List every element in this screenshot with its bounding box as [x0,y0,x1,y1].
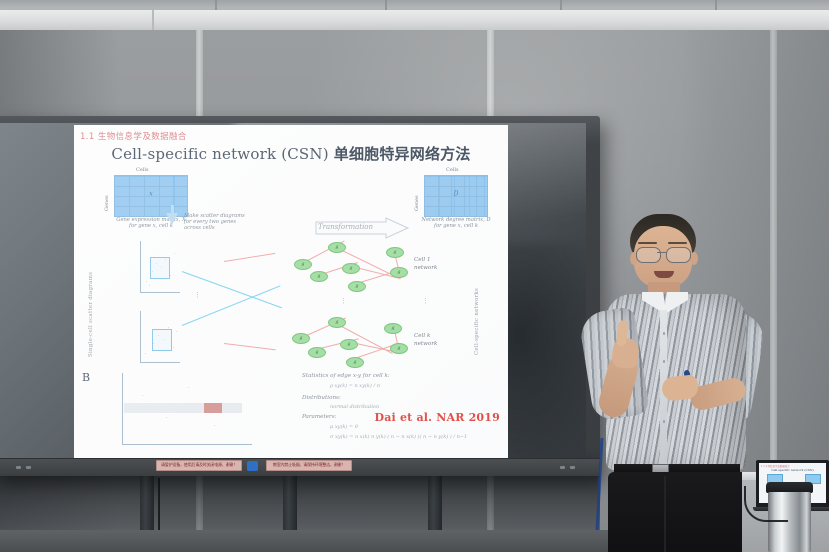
network-node: g [294,259,312,270]
network-node: g [310,271,328,282]
stats-heading: Statistics of edge x-y for cell k: [302,373,390,379]
histogram-panel [122,373,252,445]
slide-title-chinese: 单细胞特异网络方法 [334,145,471,163]
network-node: g [390,267,408,278]
table-cable [744,486,788,522]
presenter-trousers [608,472,748,552]
network-degree-matrix: D [424,175,488,217]
network-node: g [340,339,358,350]
bezel-notice-1: 请爱护设备，使用后请及时关闭电源，谢谢！ [156,460,242,471]
make-scatter-caption-3: across cells [184,225,304,231]
laptop-slide-title: Cell-specific network (CSN) [759,468,826,472]
vertical-ellipsis: ⋮ [340,297,348,305]
network-node: g [390,343,408,354]
parameters-line-2: σ xy(k) = n x(k) n y(k) ( n − n x(k) )( … [330,434,467,440]
side-label-cell-networks: Cell-specific networks [474,288,480,355]
scatter-plot [140,311,180,363]
network-node: g [346,357,364,368]
transformation-arrow-label: Transformation [318,223,373,231]
distributions-label: Distributions: [302,395,341,401]
network-node: g [348,281,366,292]
slide-content: 1.1 生物信息学及数据融合 Cell-specific network (CS… [74,125,508,458]
eyeglasses-lens-right [666,247,691,263]
vertical-ellipsis: ⋮ [422,297,430,305]
right-matrix-cell-label: D [454,191,459,198]
right-matrix-caption-2: for gene x, cell k [404,223,508,229]
network-node: g [328,242,346,253]
right-matrix-x-axis-label: Cells [446,167,459,173]
network-node: g [386,247,404,258]
ceiling-beam [0,10,829,32]
parameters-label: Parameters: [302,414,336,420]
scatter-plot [140,241,180,293]
network-node: g [342,263,360,274]
brand-badge-icon [247,461,258,471]
stats-formula: ρ xy(k) = n xy(k) / n [330,383,380,389]
cell-k-network: g g g g g g g Cell k network [280,315,420,375]
slide-title-english: Cell-specific network (CSN) [111,145,328,163]
bezel-notice-2: 教室内禁止吸烟，请保持环境整洁，谢谢！ [266,460,352,471]
slide-kicker: 1.1 生物信息学及数据融合 [80,130,187,142]
link-line [224,343,276,350]
cell-1-network: g g g g g g g Cell 1 network [280,241,420,301]
panel-letter-b: B [82,371,90,384]
link-line [224,253,276,262]
citation-label: Dai et al. NAR 2019 [374,411,500,424]
presenter-ear-right [690,252,698,265]
display-bottom-bezel: 请爱护设备，使用后请及时关闭电源，谢谢！ 教室内禁止吸烟，请保持环境整洁，谢谢！ [0,458,600,476]
side-label-scatter-diagrams: Single-cell scatter diagrams [88,272,94,357]
distributions-value: normal distribution [330,404,379,410]
cell-1-network-label-2: network [414,265,437,272]
screenshot-root: 请爱护设备，使用后请及时关闭电源，谢谢！ 教室内禁止吸烟，请保持环境整洁，谢谢！… [0,0,829,552]
vertical-ellipsis: ⋮ [194,291,202,299]
right-matrix-y-axis-label: Genes [414,195,420,211]
left-matrix-y-axis-label: Genes [104,195,110,211]
gene-expression-matrix: x [114,175,188,217]
network-node: g [308,347,326,358]
eyeglasses-bridge [657,252,667,253]
network-node: g [292,333,310,344]
left-matrix-x-axis-label: Cells [136,167,149,173]
eyeglasses-lens-left [636,247,661,263]
left-matrix-cell-label: x [149,191,152,198]
network-node: g [328,317,346,328]
cell-k-network-label-1: Cell k [414,333,430,340]
cell-1-network-label-1: Cell 1 [414,257,431,264]
slide-title: Cell-specific network (CSN) 单细胞特异网络方法 [74,143,508,164]
parameters-line-1: μ xy(k) = 0 [330,424,358,430]
trouser-crease [664,476,666,552]
network-node: g [384,323,402,334]
make-scatter-arrow-icon [166,213,178,225]
cell-k-network-label-2: network [414,341,437,348]
